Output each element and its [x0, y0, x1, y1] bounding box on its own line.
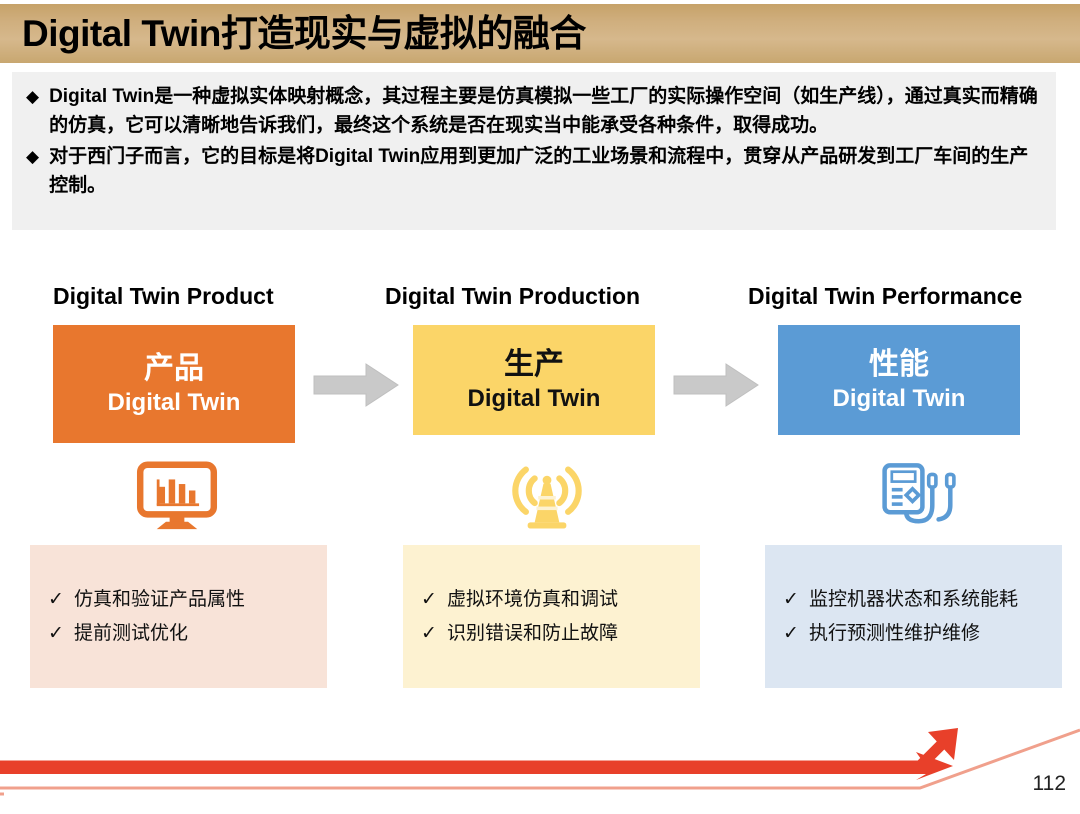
column-header-production: Digital Twin Production — [385, 283, 640, 310]
bullet-item: ◆ Digital Twin是一种虚拟实体映射概念，其过程主要是仿真模拟一些工厂… — [26, 82, 1042, 140]
check-icon: ✓ — [783, 619, 809, 649]
box-label-cn: 性能 — [869, 346, 929, 384]
check-icon: ✓ — [48, 585, 74, 615]
check-icon: ✓ — [48, 619, 74, 649]
detail-box-production: ✓ 虚拟环境仿真和调试 ✓ 识别错误和防止故障 — [403, 545, 700, 688]
monitor-bar-chart-icon — [122, 452, 232, 540]
box-label-en: Digital Twin — [833, 384, 966, 414]
check-icon: ✓ — [421, 619, 447, 649]
list-item-label: 执行预测性维护维修 — [809, 619, 980, 649]
bullet-item: ◆ 对于西门子而言，它的目标是将Digital Twin应用到更加广泛的工业场景… — [26, 142, 1042, 200]
arrow-right-icon — [312, 362, 400, 408]
arrow-right-icon — [672, 362, 760, 408]
box-label-cn: 生产 — [504, 346, 564, 384]
list-item-label: 虚拟环境仿真和调试 — [447, 585, 618, 615]
diamond-bullet-icon: ◆ — [26, 82, 39, 111]
digital-twin-production-box: 生产 Digital Twin — [413, 325, 655, 435]
page-title: Digital Twin打造现实与虚拟的融合 — [22, 13, 586, 55]
detail-box-product: ✓ 仿真和验证产品属性 ✓ 提前测试优化 — [30, 545, 327, 688]
multimeter-probe-icon — [862, 452, 972, 540]
list-item-label: 识别错误和防止故障 — [447, 619, 618, 649]
check-icon: ✓ — [421, 585, 447, 615]
list-item: ✓ 提前测试优化 — [48, 619, 311, 649]
diamond-bullet-icon: ◆ — [26, 142, 39, 171]
digital-twin-product-box: 产品 Digital Twin — [53, 325, 295, 443]
bullet-text: 对于西门子而言，它的目标是将Digital Twin应用到更加广泛的工业场景和流… — [49, 142, 1042, 200]
antenna-tower-icon — [492, 452, 602, 540]
column-header-product: Digital Twin Product — [53, 283, 274, 310]
list-item-label: 仿真和验证产品属性 — [74, 585, 245, 615]
list-item: ✓ 虚拟环境仿真和调试 — [421, 585, 684, 615]
column-header-performance: Digital Twin Performance — [748, 283, 1022, 310]
list-item: ✓ 仿真和验证产品属性 — [48, 585, 311, 615]
digital-twin-performance-box: 性能 Digital Twin — [778, 325, 1020, 435]
box-label-en: Digital Twin — [108, 388, 241, 418]
check-icon: ✓ — [783, 585, 809, 615]
detail-box-performance: ✓ 监控机器状态和系统能耗 ✓ 执行预测性维护维修 — [765, 545, 1062, 688]
slide-title-bar: Digital Twin打造现实与虚拟的融合 — [0, 4, 1080, 63]
list-item-label: 监控机器状态和系统能耗 — [809, 585, 1018, 615]
list-item-label: 提前测试优化 — [74, 619, 188, 649]
bottom-arrow-decoration — [0, 718, 1080, 809]
box-label-cn: 产品 — [144, 350, 204, 388]
box-label-en: Digital Twin — [468, 384, 601, 414]
page-number: 112 — [1033, 772, 1066, 796]
bullet-panel: ◆ Digital Twin是一种虚拟实体映射概念，其过程主要是仿真模拟一些工厂… — [12, 72, 1056, 230]
list-item: ✓ 执行预测性维护维修 — [783, 619, 1046, 649]
list-item: ✓ 识别错误和防止故障 — [421, 619, 684, 649]
list-item: ✓ 监控机器状态和系统能耗 — [783, 585, 1046, 615]
bullet-text: Digital Twin是一种虚拟实体映射概念，其过程主要是仿真模拟一些工厂的实… — [49, 82, 1042, 140]
